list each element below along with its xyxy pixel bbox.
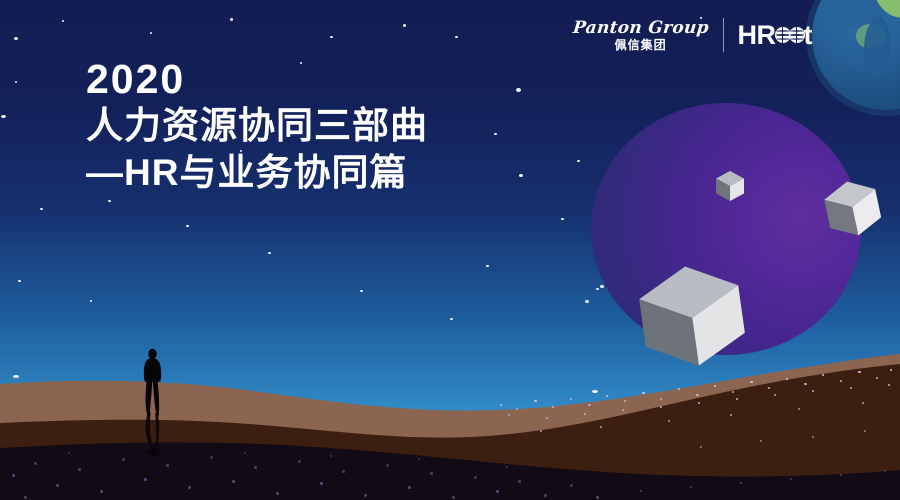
flower-speck xyxy=(452,496,455,499)
hroot-suffix-text: t xyxy=(804,22,813,49)
flower-speck xyxy=(100,490,103,493)
title-subtitle: —HR与业务协同篇 xyxy=(86,149,428,196)
flower-speck xyxy=(760,440,762,442)
flower-speck xyxy=(798,408,800,410)
flower-speck xyxy=(496,490,499,493)
flower-speck xyxy=(210,456,213,459)
flower-speck xyxy=(640,490,642,492)
flower-speck xyxy=(552,406,554,408)
flower-speck xyxy=(508,414,510,416)
flower-speck xyxy=(696,394,699,396)
flower-speck xyxy=(544,494,547,497)
flower-speck xyxy=(812,436,814,438)
flower-speck xyxy=(786,378,788,380)
flower-speck xyxy=(812,390,814,392)
panton-group-chinese-text: 佩信集团 xyxy=(615,39,667,52)
flower-speck xyxy=(596,496,599,499)
poster-canvas: 2020 人力资源协同三部曲 —HR与业务协同篇 Panton Group 佩信… xyxy=(0,0,900,500)
flower-speck xyxy=(736,398,738,400)
person-reflection-shape xyxy=(140,413,170,463)
flower-speck xyxy=(122,458,125,461)
flower-speck xyxy=(24,496,27,499)
person-reflection xyxy=(140,413,170,463)
flower-speck xyxy=(78,468,81,471)
flower-speck xyxy=(546,417,548,419)
flower-speck xyxy=(588,404,591,406)
title-year: 2020 xyxy=(86,56,428,102)
flower-speck xyxy=(364,494,367,497)
flower-speck xyxy=(166,464,169,467)
flower-speck xyxy=(430,472,433,475)
flower-speck xyxy=(740,482,742,484)
flower-speck xyxy=(584,413,586,415)
flower-speck xyxy=(540,430,542,432)
hroot-logo[interactable]: HR t xyxy=(738,22,813,49)
flower-speck xyxy=(298,460,301,463)
flower-speck xyxy=(506,466,508,468)
flower-speck xyxy=(678,388,680,390)
flower-speck xyxy=(518,480,521,483)
flower-speck xyxy=(768,387,770,389)
flower-speck xyxy=(342,470,345,473)
flower-speck xyxy=(642,392,645,394)
flower-speck xyxy=(418,458,420,460)
flower-speck xyxy=(516,408,518,410)
flower-speck xyxy=(244,452,246,454)
flower-speck xyxy=(624,400,626,402)
flower-speck xyxy=(858,371,861,373)
flower-speck xyxy=(732,391,734,393)
title-headline: 人力资源协同三部曲 xyxy=(86,102,428,149)
globe-icon xyxy=(789,27,805,43)
flower-speck xyxy=(660,406,662,408)
logo-bar: Panton Group 佩信集团 HR t xyxy=(573,18,812,52)
flower-speck xyxy=(790,478,792,480)
flower-speck xyxy=(876,377,878,379)
flower-speck xyxy=(320,482,323,485)
flower-speck xyxy=(534,400,537,402)
poster-title-block: 2020 人力资源协同三部曲 —HR与业务协同篇 xyxy=(86,56,428,196)
flower-speck xyxy=(862,402,864,404)
flower-speck xyxy=(144,478,147,481)
flower-speck xyxy=(188,486,191,489)
flower-speck xyxy=(884,470,886,472)
logo-divider xyxy=(723,18,724,52)
flower-speck xyxy=(840,474,842,476)
flower-speck xyxy=(750,381,753,383)
flower-speck xyxy=(888,384,890,386)
flower-speck xyxy=(68,452,70,454)
flower-speck xyxy=(12,474,15,477)
panton-group-logo[interactable]: Panton Group 佩信集团 xyxy=(573,19,709,52)
flower-speck xyxy=(606,395,608,397)
flower-speck xyxy=(570,398,572,400)
flower-speck xyxy=(668,420,670,422)
flower-speck xyxy=(850,387,852,389)
flower-speck xyxy=(690,486,692,488)
flower-speck xyxy=(254,466,257,469)
flower-speck xyxy=(34,462,37,465)
flower-speck xyxy=(474,476,477,479)
flower-speck xyxy=(276,492,279,495)
flower-speck xyxy=(622,409,624,411)
hroot-prefix-text: HR xyxy=(738,22,776,49)
flower-speck xyxy=(408,486,411,489)
flower-speck xyxy=(330,455,332,457)
flower-speck xyxy=(56,484,59,487)
flower-speck xyxy=(698,402,700,404)
flower-speck xyxy=(822,374,824,376)
flower-speck xyxy=(774,394,776,396)
flower-speck xyxy=(730,414,732,416)
flower-speck xyxy=(600,426,602,428)
flower-speck xyxy=(714,385,716,387)
flower-speck xyxy=(890,369,892,371)
flower-speck xyxy=(386,464,389,467)
flower-speck xyxy=(864,430,866,432)
flower-speck xyxy=(570,484,573,487)
flower-speck xyxy=(840,380,842,382)
flower-speck xyxy=(660,398,662,400)
flower-speck xyxy=(500,404,502,406)
flower-speck xyxy=(804,383,807,385)
panton-group-script-text: Panton Group xyxy=(572,19,710,38)
flower-speck xyxy=(232,480,235,483)
flower-speck xyxy=(700,446,702,448)
